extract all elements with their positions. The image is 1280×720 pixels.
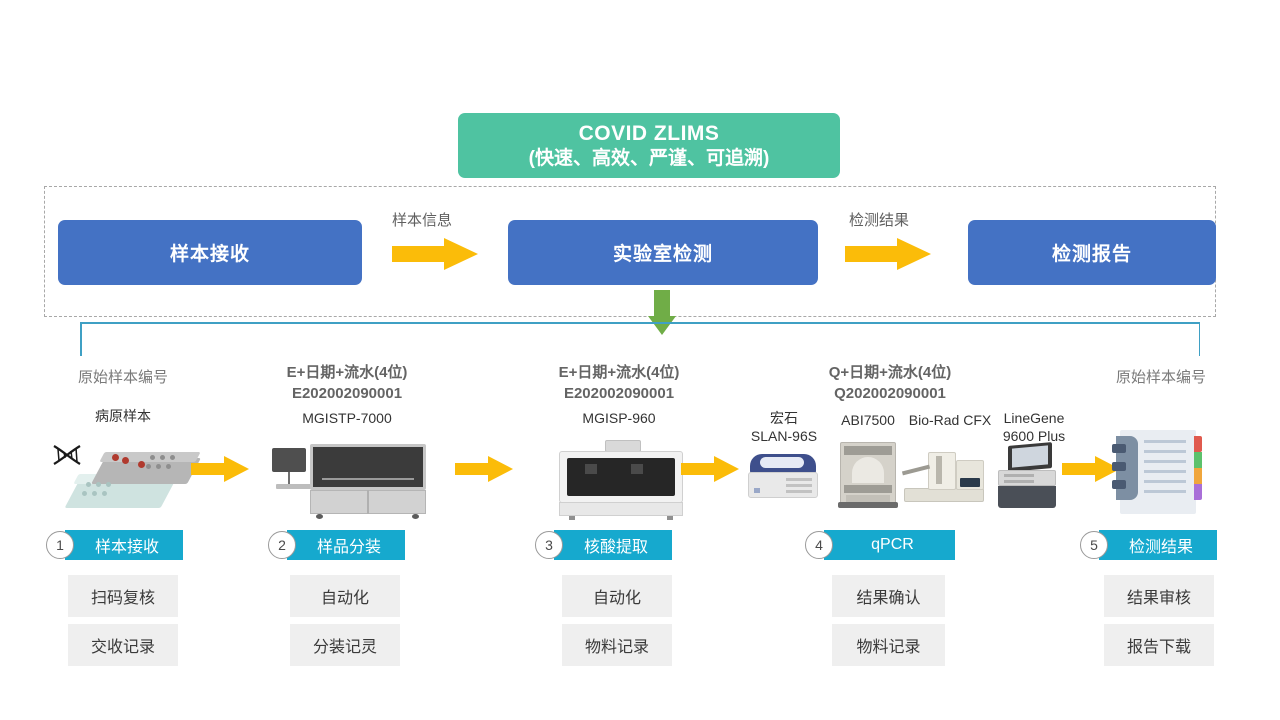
tab-orange [1194,468,1202,484]
arrow-right-step3-to-step4-icon [681,456,739,482]
step-row-3[interactable]: 3 核酸提取 [535,530,672,560]
biorad-cfx-illustration [902,448,986,510]
sub-item-4-1[interactable]: 结果确认 [832,575,945,617]
step-row-4[interactable]: 4 qPCR [805,530,955,560]
tab-red [1194,436,1202,452]
mgistp-7000-illustration [272,442,424,520]
sub-item-3-1[interactable]: 自动化 [562,575,672,617]
column-2-device-name: MGISTP-7000 [252,410,442,428]
column-4-code-example: Q202002090001 [795,383,985,404]
step-number-1: 1 [46,531,74,559]
linegene-9600-plus-illustration [996,444,1058,512]
step-label-1[interactable]: 样本接收 [65,530,183,560]
mgisp-960-illustration [545,440,695,520]
instrument-glass-door [567,458,675,496]
device-name-biorad-cfx: Bio-Rad CFX [898,412,1002,430]
flow-label-test-result: 检测结果 [849,209,909,230]
step-label-2[interactable]: 样品分装 [287,530,405,560]
instrument-screen [960,478,980,487]
sub-item-1-1[interactable]: 扫码复核 [68,575,178,617]
sub-item-5-1[interactable]: 结果审核 [1104,575,1214,617]
banner-title: COVID ZLIMS [579,121,720,147]
step-label-3[interactable]: 核酸提取 [554,530,672,560]
abi7500-illustration [838,440,900,514]
flow-label-sample-info: 样本信息 [392,209,452,230]
device-name-abi7500: ABI7500 [830,412,906,430]
process-box-lab-testing[interactable]: 实验室检测 [508,220,818,285]
step-number-3: 3 [535,531,563,559]
column-2-code-format: E+日期+流水(4位) [252,362,442,383]
arrow-right-test-result-icon [845,238,931,270]
instrument-base [559,502,683,516]
instrument-monitor [272,448,306,472]
sub-item-3-2[interactable]: 物料记录 [562,624,672,666]
column-3-code-example: E202002090001 [524,383,714,404]
process-box-test-report[interactable]: 检测报告 [968,220,1216,285]
banner-subtitle: (快速、高效、严谨、可追溯) [529,147,770,171]
step-label-5[interactable]: 检测结果 [1099,530,1217,560]
binder-ring [1112,444,1126,453]
step-number-5: 5 [1080,531,1108,559]
sub-item-2-2[interactable]: 分装记灵 [290,624,400,666]
tab-purple [1194,484,1202,500]
step-row-2[interactable]: 2 样品分装 [268,530,405,560]
step-number-2: 2 [268,531,296,559]
column-1-device-name: 病原样本 [30,408,216,426]
column-3-code-format: E+日期+流水(4位) [524,362,714,383]
column-3-device-name: MGISP-960 [524,410,714,428]
slan-96s-illustration [746,448,822,510]
step-row-1[interactable]: 1 样本接收 [46,530,183,560]
dna-helix-icon [50,444,84,474]
device-name-slan-model: SLAN-96S [736,428,832,446]
device-name-linegene-line1: LineGene [988,410,1080,428]
arrow-right-step2-to-step3-icon [455,456,513,482]
column-5-code: 原始样本编号 [1068,366,1254,387]
step-label-4[interactable]: qPCR [824,530,955,560]
instrument-screen [1012,445,1048,467]
step-number-4: 4 [805,531,833,559]
process-box-sample-reception[interactable]: 样本接收 [58,220,362,285]
sub-item-4-2[interactable]: 物料记录 [832,624,945,666]
column-2-code-example: E202002090001 [252,383,442,404]
column-1-code: 原始样本编号 [30,366,216,387]
arrow-right-step1-to-step2-icon [191,456,249,482]
arrow-right-sample-info-icon [392,238,478,270]
sub-item-5-2[interactable]: 报告下载 [1104,624,1214,666]
sub-item-2-1[interactable]: 自动化 [290,575,400,617]
sub-item-1-2[interactable]: 交收记录 [68,624,178,666]
binder-ring [1112,462,1126,471]
binder-ring [1112,480,1126,489]
step-row-5[interactable]: 5 检测结果 [1080,530,1217,560]
device-name-slan-brand: 宏石 [736,410,832,428]
instrument-window [310,444,426,490]
detail-bracket-connector [80,322,1200,356]
sample-plates-illustration [46,436,196,518]
report-document-illustration [1112,428,1208,516]
column-4-code-format: Q+日期+流水(4位) [795,362,985,383]
tab-green [1194,452,1202,468]
app-title-banner: COVID ZLIMS (快速、高效、严谨、可追溯) [458,113,840,178]
